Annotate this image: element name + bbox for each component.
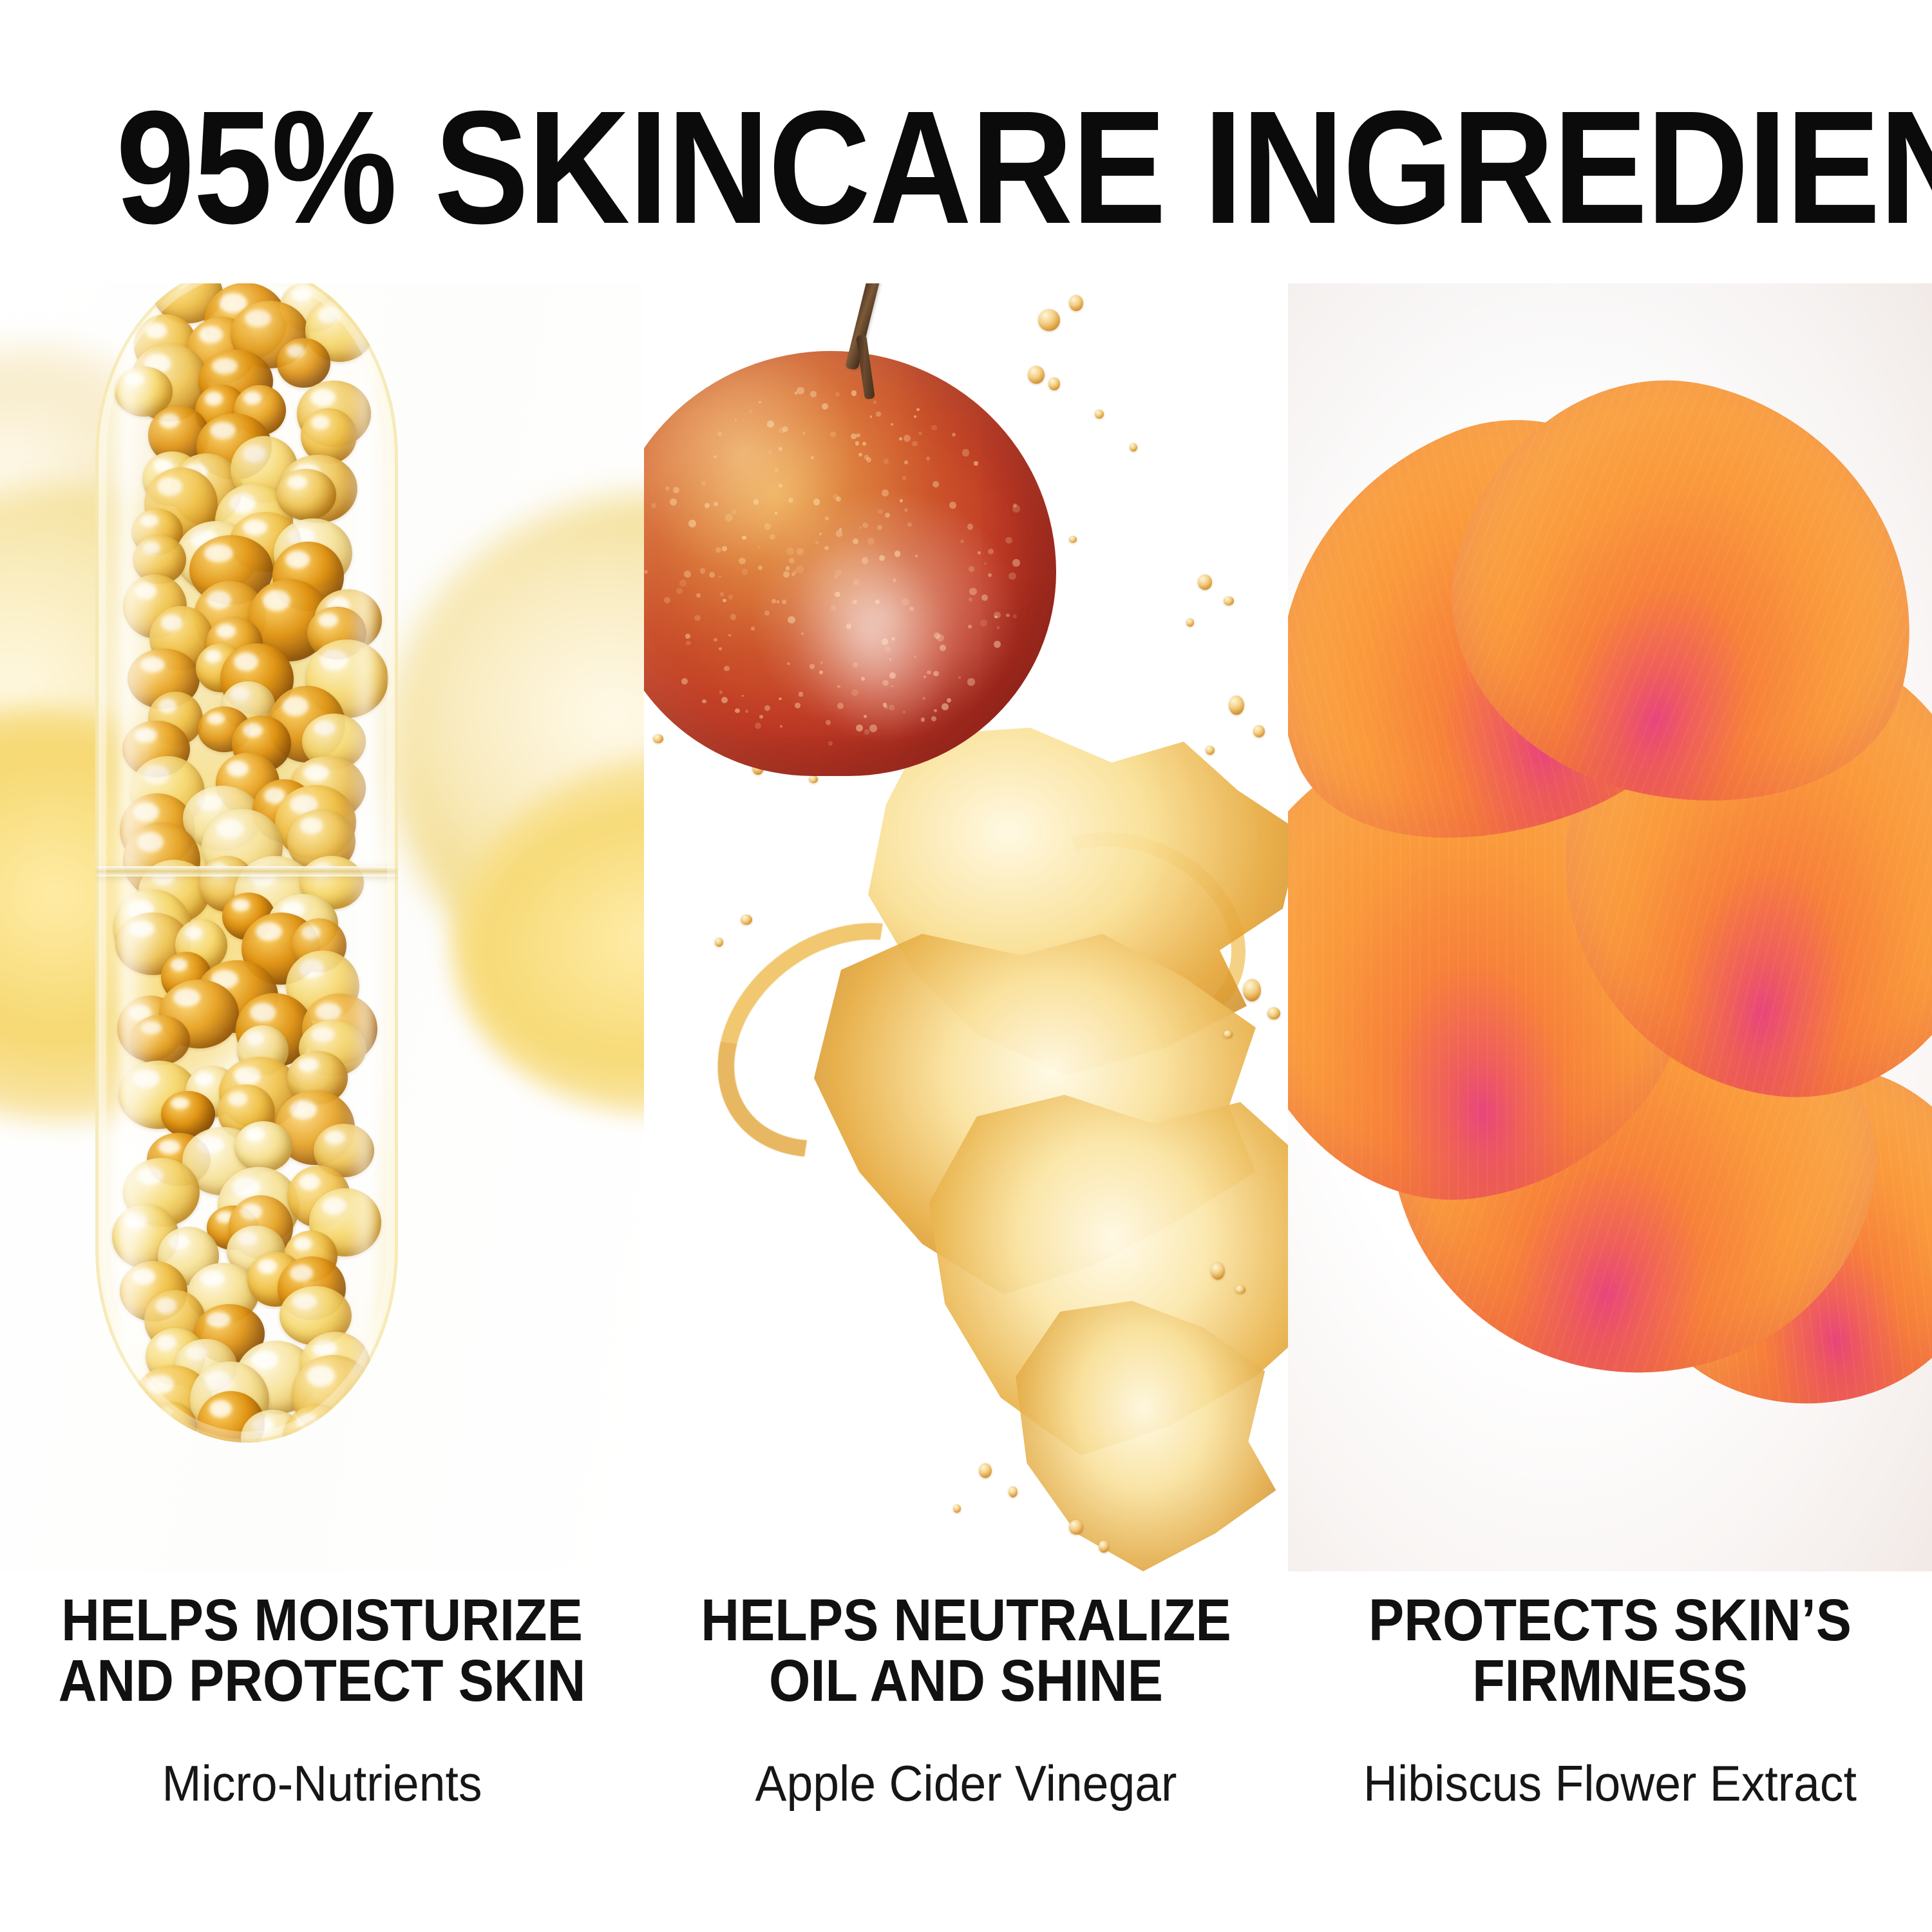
apple-skin-speck [788, 498, 793, 503]
ingredient-name: Hibiscus Flower Extract [1307, 1754, 1913, 1813]
apple-skin-speck [714, 502, 717, 506]
benefit-line-1: HELPS MOISTURIZE [61, 1587, 583, 1653]
vinegar-droplet [1253, 725, 1265, 737]
hibiscus-flower [1288, 283, 1932, 1571]
benefit-heading: HELPS NEUTRALIZE OIL AND SHINE [676, 1591, 1256, 1712]
apple-skin-speck [903, 710, 906, 714]
apple-skin-speck [902, 598, 909, 606]
apple-skin-speck [724, 666, 730, 672]
apple-skin-speck [899, 437, 902, 440]
apple-skin-speck [820, 661, 823, 664]
apple-skin-speck [893, 578, 896, 582]
vinegar-droplet [1028, 366, 1045, 384]
apple-skin-speck [878, 509, 882, 514]
apple-skin-speck [949, 502, 956, 509]
apple-skin-speck [958, 676, 961, 679]
apple-skin-speck [904, 460, 908, 464]
apple-skin-speck [755, 723, 761, 729]
apple-skin-speck [837, 703, 844, 709]
apple-skin-speck [831, 605, 836, 611]
benefit-line-2: OIL AND SHINE [676, 1651, 1256, 1712]
apple-skin-speck [923, 676, 926, 678]
apple-skin-speck [997, 626, 999, 629]
apple-skin-speck [735, 708, 740, 714]
apple-skin-speck [759, 715, 763, 719]
apple-skin-speck [909, 607, 914, 611]
apple-skin-speck [885, 513, 890, 518]
vinegar-droplet [1186, 618, 1194, 627]
vinegar-droplet [741, 914, 752, 925]
apple-skin-speck [926, 457, 930, 460]
apple-skin-speck [864, 715, 867, 718]
apple-skin-speck [940, 645, 946, 651]
apple-skin-speck [795, 703, 800, 708]
apple-skin-speck [786, 566, 790, 570]
vinegar-droplet [1069, 1520, 1083, 1535]
apple-skin-speck [684, 571, 691, 578]
apple-skin-speck [967, 524, 974, 530]
apple-skin-speck [853, 600, 857, 604]
apple-skin-speck [715, 547, 721, 553]
vinegar-droplet [1206, 746, 1215, 755]
apple-skin-speck [720, 592, 724, 596]
apple-skin-speck [870, 415, 873, 418]
apple-skin-speck [931, 425, 937, 431]
apple-skin-speck [779, 427, 785, 433]
apple-skin-speck [853, 538, 858, 544]
apple-skin-speck [782, 600, 786, 604]
vinegar-droplet [1009, 1486, 1018, 1497]
apple-skin-speck [742, 569, 748, 575]
caption-micro-nutrients: HELPS MOISTURIZE AND PROTECT SKIN Micro-… [0, 1591, 644, 1813]
apple-skin-speck [988, 549, 994, 554]
apple-skin-speck [916, 408, 920, 412]
apple-skin-speck [714, 455, 717, 459]
apple-skin-speck [884, 459, 889, 464]
apple-skin-speck [902, 476, 906, 480]
vinegar-droplet [953, 1504, 961, 1513]
benefit-line-1: PROTECTS SKIN’S [1368, 1587, 1851, 1653]
apple-skin-speck [912, 441, 918, 447]
apple-skin-speck [757, 546, 759, 548]
apple-skin-speck [759, 401, 761, 403]
apple-skin-speck [801, 632, 804, 635]
apple-skin-speck [846, 623, 852, 629]
apple-skin-speck [681, 678, 688, 685]
apple-skin-speck [694, 615, 700, 621]
vinegar-droplet [1243, 979, 1261, 1001]
apple-skin-speck [866, 457, 871, 462]
apple-skin-speck [984, 562, 987, 565]
apple-skin-speck [770, 534, 775, 540]
apple-skin-speck [904, 508, 908, 512]
apple-skin-speck [723, 599, 726, 602]
apple-skin-speck [779, 697, 782, 701]
apple-skin-speck [826, 720, 831, 725]
apple-skin-speck [830, 431, 836, 437]
apple-skin-speck [960, 540, 964, 544]
vinegar-droplet [979, 1463, 992, 1478]
apple-skin-speck [882, 638, 888, 645]
micro-bead [234, 1121, 292, 1171]
vinegar-droplet [1130, 443, 1137, 451]
ingredient-column-apple-cider-vinegar: HELPS NEUTRALIZE OIL AND SHINE Apple Cid… [644, 0, 1288, 1932]
apple-skin-speck [967, 678, 975, 686]
apple-skin-speck [882, 680, 889, 687]
apple-skin-speck [891, 637, 895, 641]
apple-skin-speck [705, 503, 710, 508]
apple-skin-speck [688, 520, 696, 527]
apple-skin-speck [933, 481, 939, 488]
benefit-heading: HELPS MOISTURIZE AND PROTECT SKIN [32, 1591, 612, 1712]
vinegar-droplet [1069, 295, 1083, 311]
apple-skin-speck [855, 441, 859, 445]
benefit-line-2: FIRMNESS [1320, 1651, 1900, 1712]
apple-skin-speck [732, 509, 737, 515]
apple-skin-speck [837, 685, 840, 688]
supplement-capsule [95, 283, 398, 1443]
apple-skin-speck [745, 710, 748, 713]
vinegar-droplet [809, 775, 818, 783]
apple-skin-speck [719, 576, 721, 578]
apple-skin-speck [819, 670, 823, 674]
apple-skin-speck [722, 546, 727, 551]
apple-skin-speck [673, 487, 679, 493]
apple-skin-speck [775, 512, 777, 515]
apple-skin-speck [758, 565, 762, 570]
apple-skin-speck [918, 431, 922, 435]
apple-skin-speck [922, 697, 925, 700]
apple-skin-speck [701, 481, 706, 486]
apple-skin-speck [885, 646, 892, 653]
apple-highlight [772, 526, 972, 755]
apple-skin-speck [980, 620, 987, 627]
apple-skin-speck [825, 516, 829, 520]
apple-skin-speck [728, 634, 731, 637]
apple-skin-speck [779, 484, 782, 488]
apple-skin-speck [665, 486, 670, 491]
apple-skin-speck [810, 664, 815, 669]
apple-skin-speck [828, 741, 833, 746]
apple-skin-speck [686, 641, 690, 645]
vinegar-droplet [1095, 410, 1104, 419]
apple-skin-speck [889, 705, 895, 710]
benefit-line-2: AND PROTECT SKIN [32, 1651, 612, 1712]
apple-skin-speck [969, 598, 972, 601]
apple-skin-speck [799, 692, 804, 697]
apple-skin-speck [811, 456, 814, 459]
apple-skin-speck [962, 449, 969, 456]
benefit-line-1: HELPS NEUTRALIZE [701, 1587, 1231, 1653]
apple-skin-speck [786, 547, 794, 555]
apple-skin-speck [714, 638, 717, 642]
apple-skin-speck [876, 412, 881, 417]
apple-skin-speck [851, 390, 857, 396]
apple-skin-speck [787, 662, 790, 665]
apple-skin-speck [1009, 573, 1016, 580]
vinegar-droplet [1048, 377, 1060, 390]
apple-skin-speck [651, 503, 657, 509]
apple-skin-speck [719, 690, 723, 694]
apple-skin-speck [676, 588, 683, 594]
ingredient-column-micro-nutrients: HELPS MOISTURIZE AND PROTECT SKIN Micro-… [0, 0, 644, 1932]
apple-skin-speck [968, 625, 972, 629]
apple-skin-speck [882, 489, 889, 497]
vinegar-droplet [1224, 1030, 1233, 1038]
apple-skin-speck [981, 594, 988, 601]
apple-skin-speck [1005, 537, 1012, 544]
apple-skin-speck [700, 568, 705, 573]
apple-skin-speck [717, 431, 722, 436]
apple-skin-speck [891, 423, 893, 426]
apple-skin-speck [764, 611, 770, 616]
apple-skin-speck [797, 387, 804, 394]
apple-skin-speck [1006, 614, 1010, 618]
apple-skin-speck [779, 447, 782, 451]
apple-skin-speck [873, 401, 877, 404]
apple-skin-speck [789, 558, 795, 563]
apple-skin-speck [679, 580, 687, 587]
apple-skin-speck [822, 403, 828, 410]
apple-skin-speck [921, 717, 925, 722]
apple-skin-speck [914, 415, 916, 418]
capsule-seam [95, 866, 398, 876]
hibiscus-image-panel [1288, 283, 1932, 1571]
apple-skin-speck [780, 725, 782, 728]
vinegar-droplet [1198, 574, 1212, 590]
apple-skin-speck [644, 570, 648, 574]
apple-skin-speck [862, 557, 869, 564]
apple-skin-speck [889, 672, 895, 678]
apple-skin-speck [725, 514, 733, 522]
ingredient-name: Micro-Nutrients [19, 1754, 625, 1813]
apple-skin-speck [728, 594, 734, 600]
capsule-highlight [120, 303, 155, 1397]
apple-skin-speck [994, 616, 998, 619]
vinegar-droplet [1229, 696, 1244, 715]
apple-skin-speck [856, 433, 860, 438]
apple-skin-speck [952, 433, 956, 437]
micro-bead [277, 338, 330, 388]
apple-skin-speck [702, 699, 706, 704]
apple-skin-speck [685, 634, 690, 639]
apple-skin-speck [777, 600, 780, 603]
apple-skin-speck [974, 461, 978, 465]
apple-skin-speck [862, 522, 868, 528]
apple-skin-speck [721, 697, 728, 703]
apple-skin-speck [915, 555, 918, 558]
apple-skin-speck [774, 468, 779, 472]
apple-skin-speck [1013, 614, 1017, 618]
apple-skin-speck [748, 410, 752, 413]
apple-skin-speck [978, 551, 981, 554]
apple-skin-speck [904, 435, 911, 442]
apple-skin-speck [836, 530, 842, 536]
apple-skin-speck [875, 600, 880, 604]
benefit-heading: PROTECTS SKIN’S FIRMNESS [1320, 1591, 1900, 1712]
apple-skin-speck [764, 705, 770, 711]
apple-skin-speck [797, 548, 804, 555]
ingredient-name: Apple Cider Vinegar [663, 1754, 1269, 1813]
apple-skin-speck [768, 451, 772, 454]
apple-skin-speck [810, 391, 816, 397]
apple-skin-speck [767, 421, 774, 428]
apple-skin-speck [860, 527, 862, 529]
apple-skin-speck [772, 599, 775, 603]
apple-skin-speck [969, 566, 974, 572]
apple-skin-speck [739, 558, 745, 564]
apple-skin-speck [709, 572, 715, 578]
apple-skin-speck [851, 433, 857, 439]
vinegar-droplet [1069, 536, 1077, 543]
vinegar-droplet [1224, 596, 1234, 605]
apple-skin-speck [753, 499, 759, 505]
ingredient-column-hibiscus-flower-extract: PROTECTS SKIN’S FIRMNESS Hibiscus Flower… [1288, 0, 1932, 1932]
apple-skin-speck [696, 593, 701, 598]
apple-skin-speck [788, 616, 795, 624]
capsule-highlight [346, 316, 372, 1385]
apple-skin-speck [764, 523, 771, 529]
apple-skin-speck [947, 698, 951, 703]
apple-skin-speck [895, 551, 900, 556]
vinegar-droplet [715, 938, 723, 947]
apple-skin-speck [835, 392, 840, 397]
apple-skin-speck [942, 703, 949, 710]
apple-skin-speck [815, 541, 819, 544]
vinegar-droplet [1211, 1262, 1225, 1280]
apple-skin-speck [934, 709, 937, 712]
apple-skin-speck [931, 716, 936, 721]
apple-skin-speck [813, 498, 820, 506]
apple-skin-speck [907, 522, 912, 527]
apple-skin-speck [900, 499, 903, 502]
capsule-image-panel [0, 283, 644, 1571]
apple-skin-speck [858, 453, 862, 457]
apple-skin-speck [664, 597, 671, 604]
apple-skin-speck [936, 634, 944, 642]
apple-skin-speck [796, 565, 804, 573]
apple-skin-speck [867, 538, 875, 545]
apple-skin-speck [1012, 559, 1020, 567]
apple-skin-speck [802, 431, 806, 435]
apple-skin-speck [877, 525, 882, 530]
ingredient-benefits-infographic: 95% SKINCARE INGREDIENTS [0, 0, 1932, 1932]
apple-skin-speck [819, 533, 822, 535]
caption-hibiscus-flower-extract: PROTECTS SKIN’S FIRMNESS Hibiscus Flower… [1288, 1591, 1932, 1813]
apple-skin-speck [988, 573, 992, 577]
vinegar-droplet [1267, 1007, 1280, 1019]
apple-skin-speck [719, 647, 722, 650]
apple-skin-speck [969, 588, 977, 596]
apple-skin-speck [994, 641, 1001, 648]
apple-skin-speck [730, 614, 737, 620]
apple-skin-speck [783, 571, 790, 578]
apple-splash-image-panel [644, 283, 1288, 1571]
apple-skin-speck [751, 627, 754, 630]
apple-skin-speck [1013, 504, 1017, 507]
apple-skin-speck [735, 419, 737, 421]
apple-skin-speck [862, 442, 866, 446]
apple-skin-speck [864, 729, 869, 734]
micro-bead [276, 469, 336, 520]
apple-skin-speck [670, 498, 677, 506]
vinegar-droplet [1038, 309, 1060, 331]
apple-skin-speck [742, 695, 744, 697]
apple-skin-speck [824, 546, 828, 550]
caption-apple-cider-vinegar: HELPS NEUTRALIZE OIL AND SHINE Apple Cid… [644, 1591, 1288, 1813]
vinegar-droplet [653, 734, 663, 743]
ingredient-columns: HELPS MOISTURIZE AND PROTECT SKIN Micro-… [0, 0, 1932, 1932]
apple-skin-speck [742, 536, 746, 540]
apple-skin-speck [836, 497, 841, 502]
apple-skin-speck [853, 579, 859, 585]
